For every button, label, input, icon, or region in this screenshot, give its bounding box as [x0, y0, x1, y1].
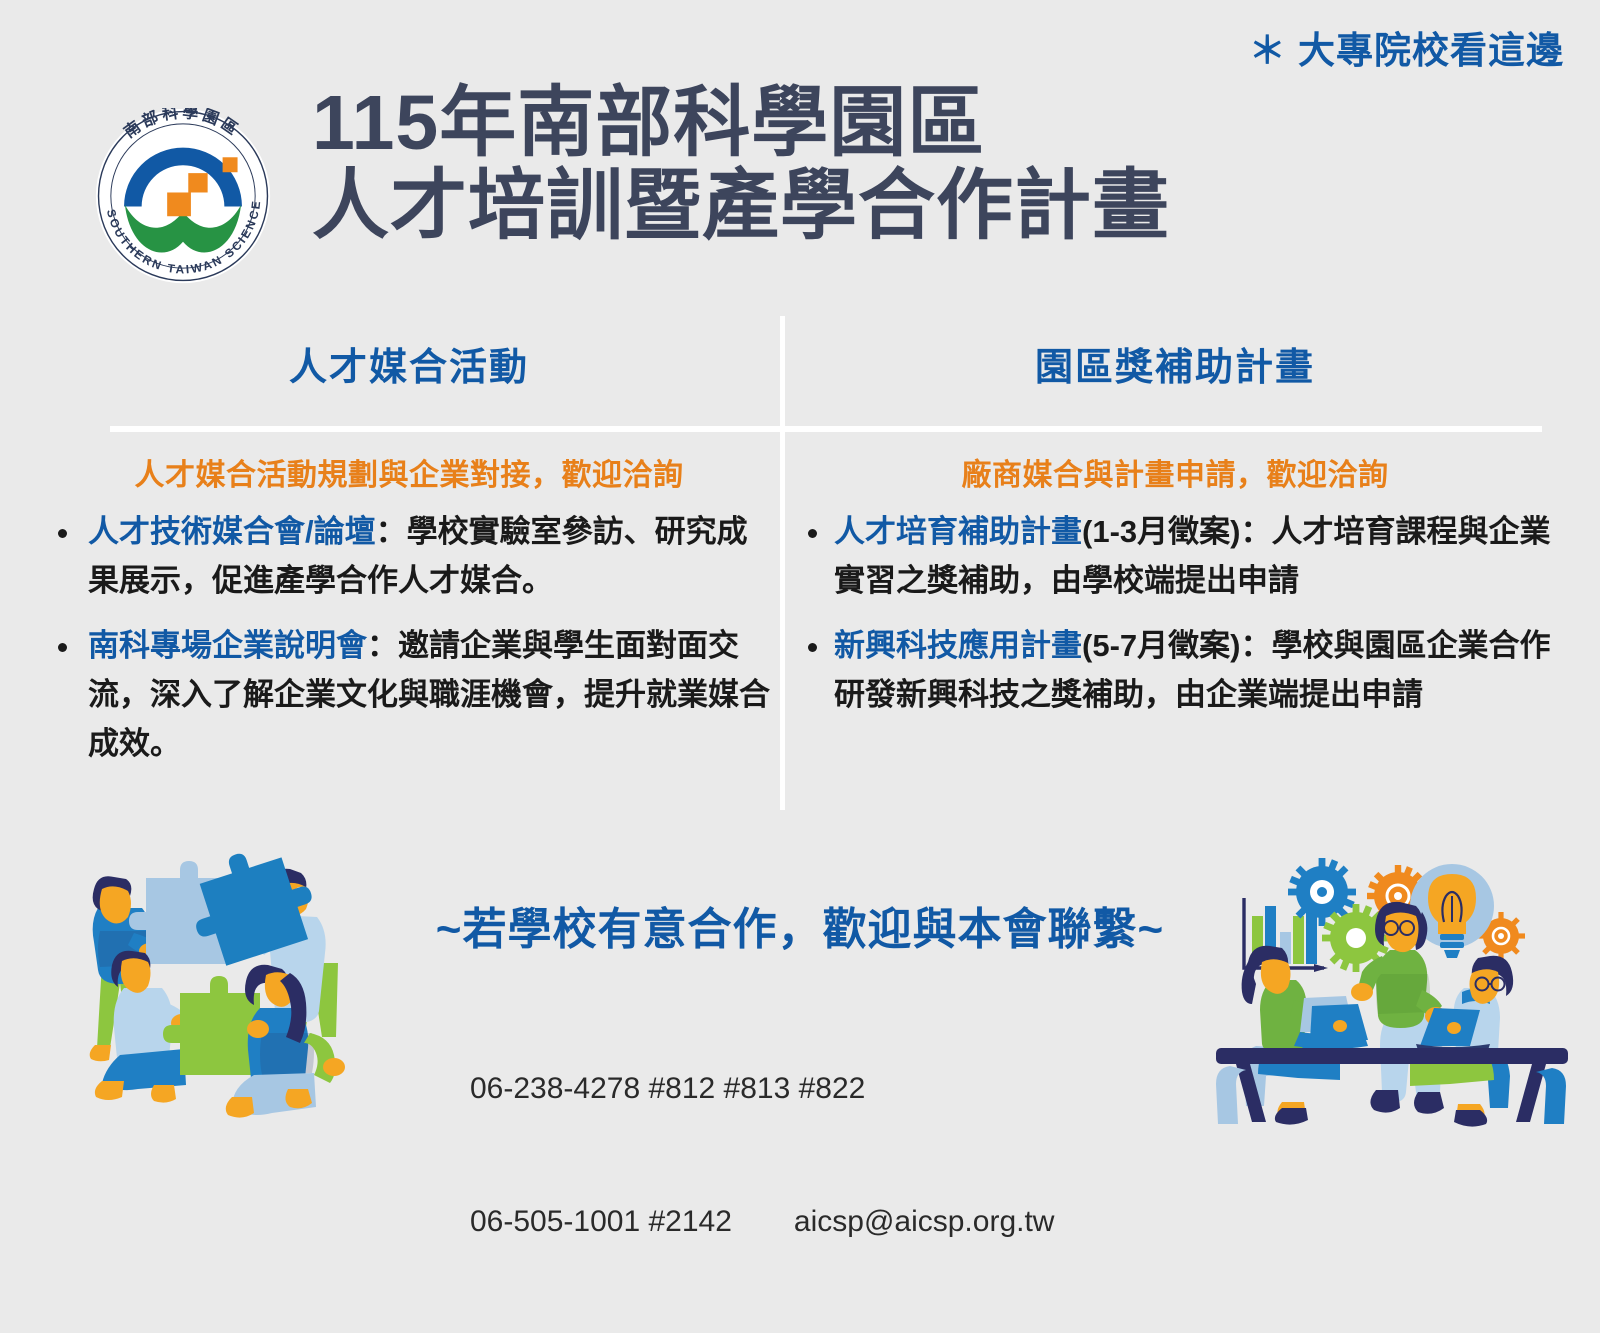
team-brainstorm-illustration: [1196, 840, 1586, 1130]
phone-line-2: 06-505-1001 #2142: [470, 1205, 732, 1238]
column-subheading-left: 人才媒合活動規劃與企業對接，歡迎洽詢: [40, 450, 778, 494]
top-note: ＊ 大專院校看這邊: [1249, 20, 1564, 74]
contact-block: 06-238-4278 #812 #813 #822 06-505-1001 #…: [470, 978, 1054, 1333]
email-address: aicsp@aicsp.org.tw: [794, 1205, 1055, 1238]
bullet-list-left: 人才技術媒合會/論壇：學校實驗室參訪、研究成果展示，促進產學合作人才媒合。 南科…: [40, 508, 778, 769]
column-talent-matching: 人才媒合活動 人才媒合活動規劃與企業對接，歡迎洽詢 人才技術媒合會/論壇：學校實…: [40, 344, 778, 785]
puzzle-teamwork-illustration: [62, 833, 382, 1123]
bullet-highlight: 人才培育補助計畫: [834, 514, 1082, 549]
bullet-highlight: 南科專場企業說明會: [88, 628, 367, 663]
poster-canvas: ＊ 大專院校看這邊 南部科學園區 SOUTHERN TAIWAN: [0, 0, 1600, 1131]
list-item: 新興科技應用計畫(5-7月徵案)：學校與園區企業合作研發新興科技之獎補助，由企業…: [790, 622, 1560, 720]
list-item: 人才培育補助計畫(1-3月徵案)：人才培育課程與企業實習之獎補助，由學校端提出申…: [790, 508, 1560, 606]
list-item: 南科專場企業說明會：邀請企業與學生面對面交流，深入了解企業文化與職涯機會，提升就…: [40, 622, 778, 769]
page-title-line-1: 115年南部科學園區: [312, 82, 1170, 165]
bullet-highlight: 新興科技應用計畫: [834, 628, 1082, 663]
phone-email-row: 06-505-1001 #2142aicsp@aicsp.org.tw: [470, 1200, 1054, 1244]
column-subheading-right: 廠商媒合與計畫申請，歡迎洽詢: [790, 450, 1560, 494]
southern-taiwan-science-park-logo: 南部科學園區 SOUTHERN TAIWAN SCIENCE PARK: [95, 108, 271, 284]
column-heading-right: 園區獎補助計畫: [790, 344, 1560, 428]
list-item: 人才技術媒合會/論壇：學校實驗室參訪、研究成果展示，促進產學合作人才媒合。: [40, 508, 778, 606]
vertical-divider: [780, 316, 785, 810]
page-title-line-2: 人才培訓暨產學合作計畫: [312, 165, 1170, 248]
bullet-highlight: 人才技術媒合會/論壇: [88, 514, 376, 549]
column-park-subsidy: 園區獎補助計畫 廠商媒合與計畫申請，歡迎洽詢 人才培育補助計畫(1-3月徵案)：…: [790, 344, 1560, 736]
column-heading-left: 人才媒合活動: [40, 344, 778, 428]
page-title: 115年南部科學園區 人才培訓暨產學合作計畫: [312, 82, 1170, 248]
bullet-list-right: 人才培育補助計畫(1-3月徵案)：人才培育課程與企業實習之獎補助，由學校端提出申…: [790, 508, 1560, 720]
phone-line-1: 06-238-4278 #812 #813 #822: [470, 1067, 1054, 1111]
